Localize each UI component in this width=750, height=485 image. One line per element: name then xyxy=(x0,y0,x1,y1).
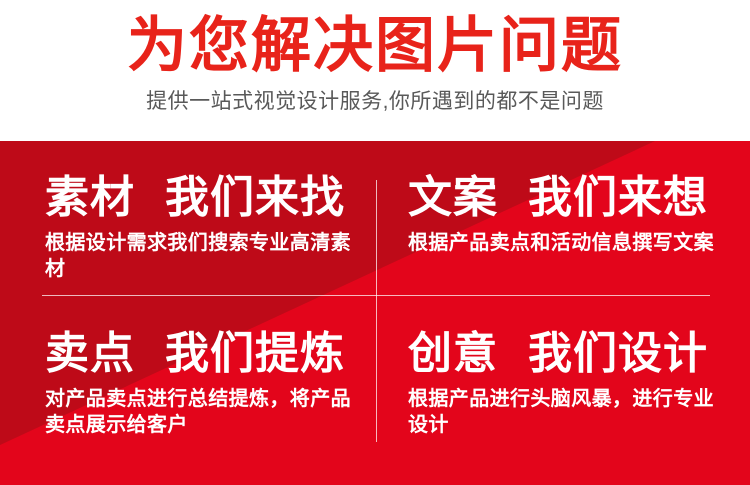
promo-banner: 为您解决图片问题 提供一站式视觉设计服务,你所遇到的都不是问题 素材我们来找 根… xyxy=(0,0,750,485)
feature-description: 根据产品卖点和活动信息撰写文案 xyxy=(408,230,714,256)
feature-heading-topic: 素材 xyxy=(45,173,135,222)
feature-cell-selling-points[interactable]: 卖点我们提炼 对产品卖点进行总结提炼，将产品卖点展示给客户 xyxy=(45,329,365,438)
feature-description: 根据产品进行头脑风暴，进行专业设计 xyxy=(408,386,728,438)
feature-cell-creative[interactable]: 创意我们设计 根据产品进行头脑风暴，进行专业设计 xyxy=(408,329,728,438)
feature-heading-action: 我们来想 xyxy=(528,173,708,222)
feature-heading: 卖点我们提炼 xyxy=(45,329,365,379)
grid-divider-horizontal xyxy=(42,295,710,296)
feature-heading-action: 我们来找 xyxy=(165,173,345,222)
page-subtitle: 提供一站式视觉设计服务,你所遇到的都不是问题 xyxy=(0,88,750,116)
feature-cell-material[interactable]: 素材我们来找 根据设计需求我们搜索专业高清素材 xyxy=(45,173,365,282)
feature-heading-topic: 卖点 xyxy=(45,329,135,378)
features-panel: 素材我们来找 根据设计需求我们搜索专业高清素材 文案我们来想 根据产品卖点和活动… xyxy=(0,141,750,485)
feature-heading: 文案我们来想 xyxy=(408,173,714,223)
feature-heading: 素材我们来找 xyxy=(45,173,365,223)
grid-divider-vertical xyxy=(376,180,377,442)
feature-heading-action: 我们设计 xyxy=(528,329,708,378)
feature-heading-action: 我们提炼 xyxy=(165,329,345,378)
feature-heading-topic: 文案 xyxy=(408,173,498,222)
feature-heading: 创意我们设计 xyxy=(408,329,728,379)
page-title: 为您解决图片问题 xyxy=(0,12,750,80)
header-section: 为您解决图片问题 提供一站式视觉设计服务,你所遇到的都不是问题 xyxy=(0,0,750,141)
feature-description: 根据设计需求我们搜索专业高清素材 xyxy=(45,230,365,282)
feature-cell-copywriting[interactable]: 文案我们来想 根据产品卖点和活动信息撰写文案 xyxy=(408,173,714,256)
feature-description: 对产品卖点进行总结提炼，将产品卖点展示给客户 xyxy=(45,386,365,438)
feature-heading-topic: 创意 xyxy=(408,329,498,378)
